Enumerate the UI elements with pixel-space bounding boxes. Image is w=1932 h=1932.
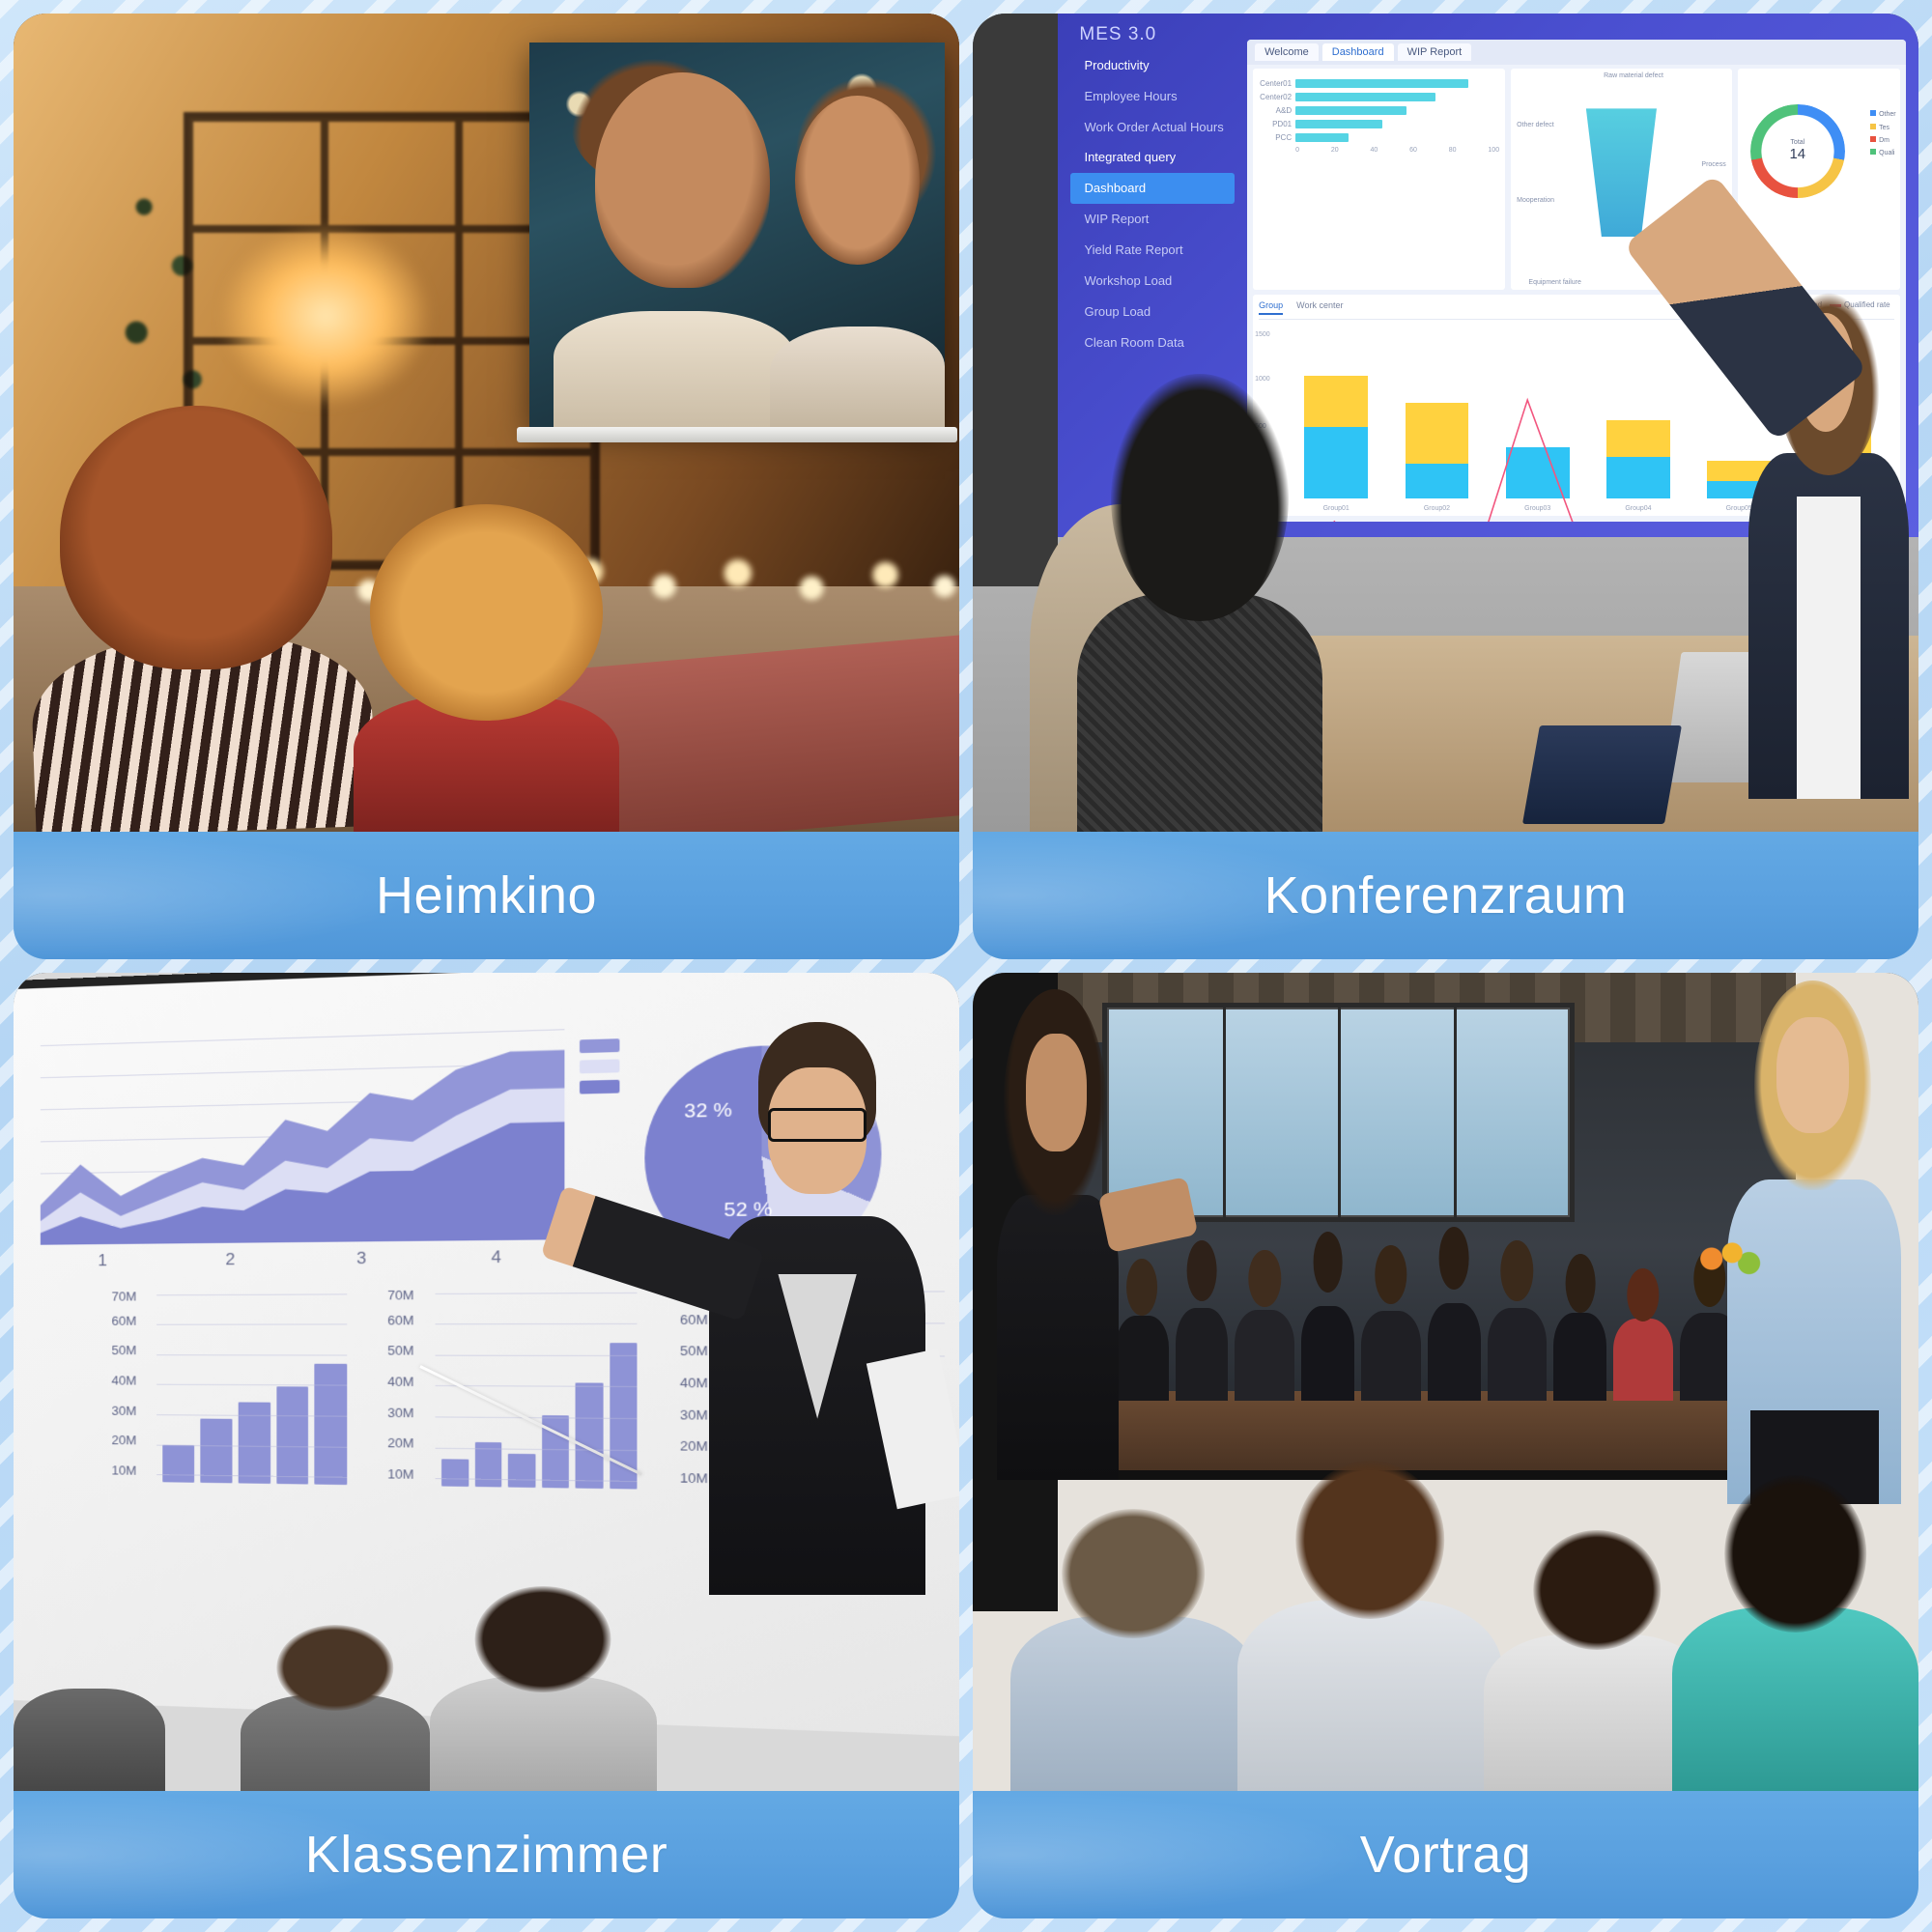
panel-conference-room[interactable]: MES 3.0 Productivity Employee Hours Work… — [973, 14, 1918, 959]
student-1 — [241, 1625, 430, 1791]
radar-axis-1: Other defect — [1517, 122, 1554, 128]
group-ytick-1500: 1500 — [1255, 331, 1270, 338]
photo-home-cinema — [14, 14, 959, 832]
audience-4-body — [1672, 1607, 1918, 1791]
sidebar-item-employee-hours[interactable]: Employee Hours — [1070, 81, 1234, 112]
classroom-teacher — [695, 1022, 941, 1595]
hbar-label-2: A&D — [1259, 106, 1292, 115]
attendee-front — [1077, 374, 1323, 832]
audience-2-body — [1237, 1600, 1502, 1791]
audience-4-head — [1724, 1475, 1867, 1634]
presenter-right-face — [1776, 1017, 1848, 1132]
lecture-audience — [973, 1447, 1918, 1791]
lamp-glow — [221, 226, 429, 406]
mini-chart-1: 70M 60M 50M 40M 30M 20M 10M — [112, 1293, 348, 1485]
caption-classroom: Klassenzimmer — [14, 1791, 959, 1918]
tab-dashboard[interactable]: Dashboard — [1322, 43, 1394, 61]
student-2 — [430, 1586, 657, 1790]
mini-chart-2: 70M 60M 50M 40M 30M 20M 10M — [387, 1293, 637, 1490]
hbar-tick-5: 100 — [1488, 147, 1499, 154]
viewer-child-hair — [370, 504, 603, 721]
screen-content-crowd — [1102, 1172, 1766, 1401]
projected-movie-frame — [529, 43, 946, 427]
panel-home-cinema[interactable]: Heimkino — [14, 14, 959, 959]
area-xtick-3: 4 — [491, 1248, 500, 1268]
attendee-front-head — [1111, 374, 1288, 621]
area-xtick-0: 1 — [98, 1252, 107, 1271]
photo-lecture — [973, 973, 1918, 1791]
sidebar-item-integrated-query[interactable]: Integrated query — [1070, 142, 1234, 173]
sidebar-item-dashboard[interactable]: Dashboard — [1070, 173, 1234, 204]
hbar-tick-4: 80 — [1449, 147, 1457, 154]
radar-axis-2: Mooperation — [1517, 197, 1554, 204]
panel-lecture[interactable]: Vortrag — [973, 973, 1918, 1918]
sidebar-item-clean-room-data[interactable]: Clean Room Data — [1070, 327, 1234, 358]
group-tab-group[interactable]: Group — [1259, 300, 1283, 315]
donut-legend-3: Quali — [1879, 150, 1894, 156]
conference-wall-left — [973, 14, 1058, 586]
audience-member-1 — [1010, 1509, 1257, 1791]
sidebar-item-productivity[interactable]: Productivity — [1070, 50, 1234, 81]
widget-horizontal-bar-chart: Center01 Center02 A&D PD01 PCC 0 20 40 6… — [1253, 69, 1505, 290]
radar-shape — [1586, 108, 1657, 237]
hbar-tick-1: 20 — [1331, 147, 1339, 154]
presenter-left — [978, 989, 1138, 1480]
fruit-props — [1697, 1222, 1762, 1295]
presenter-right — [1719, 980, 1909, 1504]
panel-classroom[interactable]: 1 2 3 4 32 % 16 % 52 % — [14, 973, 959, 1918]
student-3 — [14, 1689, 165, 1791]
dashboard-app-title: MES 3.0 — [1079, 24, 1156, 45]
donut-legend-1: Tes — [1879, 125, 1889, 131]
audience-member-2 — [1237, 1461, 1502, 1790]
audience-1-body — [1010, 1616, 1257, 1791]
presenter-shirt — [1797, 497, 1861, 799]
attendee-front-body — [1077, 593, 1323, 832]
caption-conference-room: Konferenzraum — [973, 832, 1918, 959]
sidebar-item-yield-rate-report[interactable]: Yield Rate Report — [1070, 235, 1234, 266]
hbar-label-3: PD01 — [1259, 120, 1292, 128]
student-2-head — [475, 1586, 611, 1692]
movie-man-head — [595, 72, 770, 288]
panel-grid: Heimkino MES 3.0 Productivity Employee H… — [0, 0, 1932, 1932]
area-chart-legend — [580, 1039, 619, 1102]
presenter-left-top — [997, 1195, 1119, 1480]
hbar-tick-2: 40 — [1370, 147, 1378, 154]
viewer-adult — [33, 406, 373, 831]
caption-home-cinema: Heimkino — [14, 832, 959, 959]
donut-center-label: Total — [1790, 139, 1804, 146]
tab-welcome[interactable]: Welcome — [1255, 43, 1319, 61]
projection-screen — [529, 43, 946, 427]
movie-man-shirt — [554, 311, 795, 426]
audience-1-head — [1063, 1509, 1206, 1638]
dashboard-tabbar[interactable]: Welcome Dashboard WIP Report — [1247, 40, 1906, 65]
area-chart-xticks: 1 2 3 4 — [40, 1248, 564, 1272]
sidebar-item-group-load[interactable]: Group Load — [1070, 297, 1234, 327]
hbar-label-4: PCC — [1259, 133, 1292, 142]
hbar-label-1: Center02 — [1259, 93, 1292, 101]
sidebar-item-work-order-actual-hours[interactable]: Work Order Actual Hours — [1070, 112, 1234, 143]
slide-area-chart — [40, 1030, 564, 1246]
area-xtick-1: 2 — [226, 1251, 236, 1271]
donut-legend-2: Dm — [1879, 137, 1889, 144]
audience-2-head — [1295, 1461, 1444, 1619]
radar-axis-3: Equipment failure — [1528, 279, 1580, 286]
donut-legend: Other Tes Dm Quali — [1870, 108, 1896, 159]
tab-wip-report[interactable]: WIP Report — [1398, 43, 1472, 61]
classroom-students — [14, 1578, 959, 1791]
sidebar-item-wip-report[interactable]: WIP Report — [1070, 204, 1234, 235]
sidebar-item-workshop-load[interactable]: Workshop Load — [1070, 266, 1234, 297]
radar-axis-5: Process — [1701, 161, 1725, 168]
student-3-body — [14, 1689, 165, 1791]
presenter-left-face — [1026, 1034, 1087, 1151]
student-1-head — [276, 1625, 393, 1711]
tablet-device — [1522, 725, 1682, 824]
hbar-tick-3: 60 — [1409, 147, 1417, 154]
photo-classroom: 1 2 3 4 32 % 16 % 52 % — [14, 973, 959, 1791]
viewer-adult-hair — [60, 406, 332, 669]
donut-legend-0: Other — [1879, 111, 1896, 118]
screen-roller-bar — [517, 427, 958, 442]
movie-woman-shirt — [770, 327, 945, 426]
student-2-body — [430, 1676, 657, 1790]
audience-member-4 — [1672, 1475, 1918, 1791]
caption-lecture: Vortrag — [973, 1791, 1918, 1918]
donut-center-number: 14 — [1789, 146, 1805, 162]
audience-3-head — [1533, 1530, 1661, 1650]
donut-center-value: Total 14 — [1750, 104, 1844, 198]
movie-woman-head — [795, 96, 920, 265]
photo-conference-room: MES 3.0 Productivity Employee Hours Work… — [973, 14, 1918, 832]
radar-axis-0: Raw material defect — [1604, 72, 1663, 79]
dashboard-widget-row: Center01 Center02 A&D PD01 PCC 0 20 40 6… — [1253, 69, 1900, 290]
hbar-axis-ticks: 0 20 40 60 80 100 — [1259, 147, 1499, 154]
group-tab-work-center[interactable]: Work center — [1296, 300, 1343, 315]
hbar-label-0: Center01 — [1259, 79, 1292, 88]
glasses-icon — [768, 1108, 867, 1143]
viewer-child — [354, 504, 618, 832]
area-xtick-2: 3 — [356, 1249, 366, 1269]
hbar-tick-0: 0 — [1295, 147, 1299, 154]
conference-presenter — [1748, 259, 1909, 799]
